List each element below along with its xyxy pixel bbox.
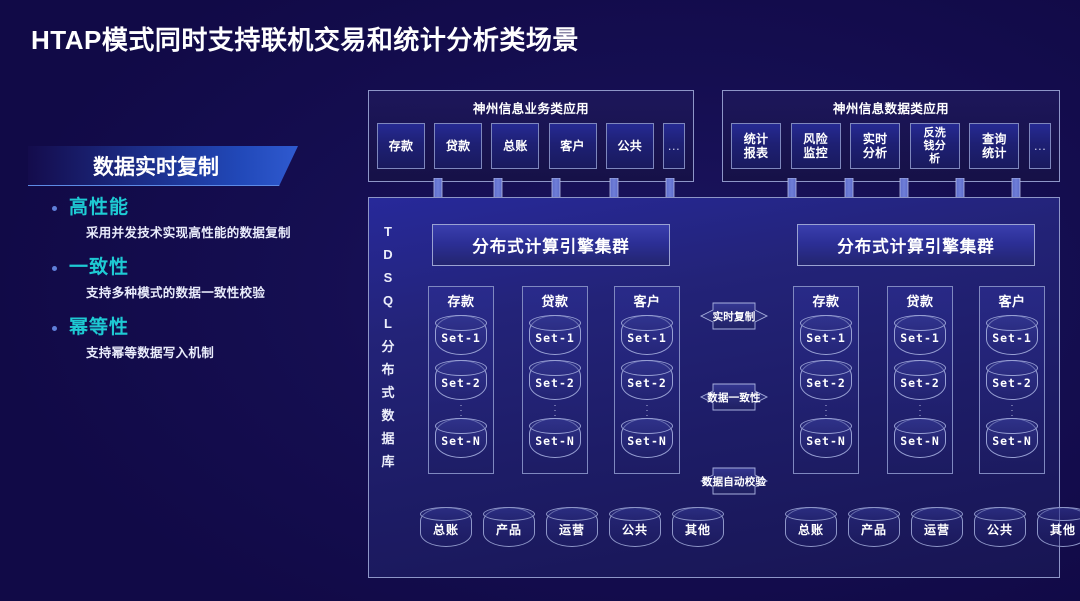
tdsql-vertical-label: T D S Q L 分 布 式 数 据 库 (373, 220, 403, 473)
bottom-cylinder[interactable]: 产品 (848, 507, 900, 547)
sync-arrow-label: 数据自动校验 (702, 474, 766, 489)
set-cylinder[interactable]: Set-1 (621, 315, 673, 355)
set-cylinder[interactable]: Set-N (800, 418, 852, 458)
vlabel-char: 分 (381, 335, 394, 358)
vlabel-char: S (384, 266, 393, 289)
set-cylinder[interactable]: Set-N (435, 418, 487, 458)
shard-column-title: 客户 (980, 291, 1044, 310)
app-box-business: 神州信息业务类应用 存款 贷款 总账 客户 公共 … (368, 90, 694, 182)
shard-column-title: 贷款 (888, 291, 952, 310)
app-item[interactable]: 查询 统计 (969, 123, 1019, 169)
sync-arrow-label: 数据一致性 (707, 390, 761, 405)
bottom-cylinder[interactable]: 总账 (420, 507, 472, 547)
sync-arrow-data-consistency: 数据一致性 (692, 378, 776, 416)
bullet-dot-icon (52, 266, 57, 271)
app-item[interactable]: 客户 (549, 123, 597, 169)
shard-column-loan-left: 贷款 Set-1 Set-2 ··· Set-N (522, 286, 588, 474)
vlabel-char: 布 (381, 358, 394, 381)
list-item: 一致性 支持多种模式的数据一致性校验 (52, 254, 352, 302)
banner-label: 数据实时复制 (28, 146, 298, 186)
ellipsis-dots-icon: ··· (980, 400, 1044, 418)
app-item[interactable]: 贷款 (434, 123, 482, 169)
set-cylinder[interactable]: Set-1 (894, 315, 946, 355)
ellipsis-dots-icon: ··· (429, 400, 493, 418)
bottom-cylinder[interactable]: 其他 (1037, 507, 1080, 547)
app-item[interactable]: 统计 报表 (731, 123, 781, 169)
app-item-group: 统计 报表 风险 监控 实时 分析 反洗 钱分 析 查询 统计 … (723, 117, 1059, 177)
bottom-cylinder[interactable]: 公共 (609, 507, 661, 547)
vlabel-char: 库 (381, 450, 394, 473)
shard-column-title: 贷款 (523, 291, 587, 310)
set-cylinder[interactable]: Set-N (894, 418, 946, 458)
vlabel-char: Q (383, 289, 393, 312)
shard-column-deposit-left: 存款 Set-1 Set-2 ··· Set-N (428, 286, 494, 474)
set-cylinder[interactable]: Set-1 (800, 315, 852, 355)
ellipsis-dots-icon: ··· (794, 400, 858, 418)
app-item[interactable]: 存款 (377, 123, 425, 169)
feature-desc: 支持多种模式的数据一致性校验 (86, 284, 352, 302)
bullet-dot-icon (52, 206, 57, 211)
set-cylinder[interactable]: Set-N (529, 418, 581, 458)
vlabel-char: T (384, 220, 392, 243)
ellipsis-dots-icon: ··· (523, 400, 587, 418)
bottom-cylinder[interactable]: 公共 (974, 507, 1026, 547)
app-item-more[interactable]: … (1029, 123, 1051, 169)
shard-column-title: 存款 (794, 291, 858, 310)
vlabel-char: D (383, 243, 392, 266)
compute-engine-cluster-right[interactable]: 分布式计算引擎集群 (797, 224, 1035, 266)
app-item[interactable]: 公共 (606, 123, 654, 169)
set-cylinder[interactable]: Set-N (621, 418, 673, 458)
shard-column-deposit-right: 存款 Set-1 Set-2 ··· Set-N (793, 286, 859, 474)
app-item-more[interactable]: … (663, 123, 685, 169)
feature-title: 高性能 (69, 194, 129, 222)
app-item[interactable]: 风险 监控 (791, 123, 841, 169)
feature-desc: 采用并发技术实现高性能的数据复制 (86, 224, 352, 242)
slide-canvas: HTAP模式同时支持联机交易和统计分析类场景 数据实时复制 高性能 采用并发技术… (0, 0, 1080, 601)
vlabel-char: 数 (381, 404, 394, 427)
shard-column-loan-right: 贷款 Set-1 Set-2 ··· Set-N (887, 286, 953, 474)
sync-arrow-auto-verification: 数据自动校验 (692, 462, 776, 500)
set-cylinder[interactable]: Set-1 (435, 315, 487, 355)
set-cylinder[interactable]: Set-2 (435, 360, 487, 400)
section-banner: 数据实时复制 (28, 146, 298, 186)
shard-column-customer-right: 客户 Set-1 Set-2 ··· Set-N (979, 286, 1045, 474)
bottom-cylinder[interactable]: 运营 (911, 507, 963, 547)
ellipsis-dots-icon: ··· (615, 400, 679, 418)
ellipsis-dots-icon: ··· (888, 400, 952, 418)
sync-arrow-realtime-replication: 实时复制 (692, 297, 776, 335)
feature-title: 幂等性 (69, 314, 129, 342)
set-cylinder[interactable]: Set-2 (529, 360, 581, 400)
app-box-title: 神州信息业务类应用 (369, 98, 693, 117)
set-cylinder[interactable]: Set-1 (529, 315, 581, 355)
set-cylinder[interactable]: Set-N (986, 418, 1038, 458)
page-title: HTAP模式同时支持联机交易和统计分析类场景 (31, 20, 579, 57)
vlabel-char: 据 (381, 427, 394, 450)
shard-column-customer-left: 客户 Set-1 Set-2 ··· Set-N (614, 286, 680, 474)
sync-arrow-label: 实时复制 (713, 309, 756, 324)
app-item[interactable]: 实时 分析 (850, 123, 900, 169)
list-item: 高性能 采用并发技术实现高性能的数据复制 (52, 194, 352, 242)
bottom-cylinder[interactable]: 运营 (546, 507, 598, 547)
bullet-dot-icon (52, 326, 57, 331)
shard-column-title: 客户 (615, 291, 679, 310)
bottom-cylinder[interactable]: 总账 (785, 507, 837, 547)
set-cylinder[interactable]: Set-2 (894, 360, 946, 400)
set-cylinder[interactable]: Set-2 (800, 360, 852, 400)
app-item[interactable]: 总账 (491, 123, 539, 169)
app-box-title: 神州信息数据类应用 (723, 98, 1059, 117)
app-box-data: 神州信息数据类应用 统计 报表 风险 监控 实时 分析 反洗 钱分 析 查询 统… (722, 90, 1060, 182)
bottom-cylinder[interactable]: 其他 (672, 507, 724, 547)
feature-list: 高性能 采用并发技术实现高性能的数据复制 一致性 支持多种模式的数据一致性校验 … (52, 194, 352, 374)
list-item: 幂等性 支持幂等数据写入机制 (52, 314, 352, 362)
vlabel-char: L (384, 312, 392, 335)
shard-column-title: 存款 (429, 291, 493, 310)
feature-desc: 支持幂等数据写入机制 (86, 344, 352, 362)
app-item-group: 存款 贷款 总账 客户 公共 … (369, 117, 693, 177)
bottom-cylinder[interactable]: 产品 (483, 507, 535, 547)
vlabel-char: 式 (381, 381, 394, 404)
set-cylinder[interactable]: Set-2 (986, 360, 1038, 400)
compute-engine-cluster-left[interactable]: 分布式计算引擎集群 (432, 224, 670, 266)
set-cylinder[interactable]: Set-1 (986, 315, 1038, 355)
tdsql-panel: T D S Q L 分 布 式 数 据 库 分布式计算引擎集群 存款 Set-1… (368, 197, 1060, 578)
feature-title: 一致性 (69, 254, 129, 282)
app-item[interactable]: 反洗 钱分 析 (910, 123, 960, 169)
set-cylinder[interactable]: Set-2 (621, 360, 673, 400)
